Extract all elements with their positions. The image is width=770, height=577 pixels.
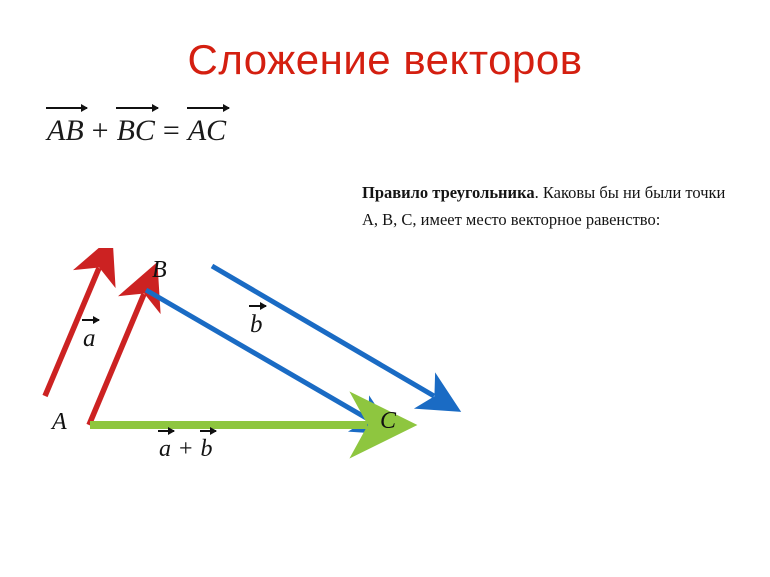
page-title: Сложение векторов [0,38,770,82]
sum-right-letter: b [201,436,213,462]
vector-equation: AB+BC=AC [46,116,227,146]
vector-BC-letters: BC [117,114,155,147]
vector-arrow-overline-icon [200,430,216,432]
vector-arrow-overline-icon [249,305,266,307]
vector-AB-letters: AB [47,114,84,147]
rule-paragraph: Правило треугольника. Каковы бы ни были … [362,180,734,233]
point-label-A: A [52,410,67,434]
vector-arrow-overline-icon [82,319,99,321]
vector-arrow-overline-icon [158,430,174,432]
rule-title: Правило треугольника [362,183,535,202]
vector-label-b: b [249,312,264,337]
sum-right-glyph: b [200,437,214,461]
vector-arrow-overline-icon [187,107,229,109]
point-label-C: C [380,409,396,433]
vector-label-a: a [82,326,97,351]
vector-AC-letters: AC [188,114,226,147]
vector-b-BC [146,290,368,419]
vector-a-letter: a [83,325,96,352]
sum-left-letter: a [159,436,171,462]
plus-operator: + [85,114,116,147]
vector-arrow-overline-icon [46,107,87,109]
sum-plus-operator: + [172,436,200,462]
vector-arrow-overline-icon [116,107,158,109]
vector-AC: AC [187,116,227,146]
diagram-svg [0,248,520,488]
vector-b-letter: b [250,311,263,338]
vector-b-glyph: b [249,312,264,337]
point-label-B: B [152,258,167,282]
vector-triangle-diagram [0,248,520,488]
vector-BC: BC [116,116,156,146]
equals-operator: = [156,114,187,147]
vector-a-AB [89,294,144,425]
sum-left-glyph: a [158,437,172,461]
vector-AB: AB [46,116,85,146]
vector-b-free [212,266,434,396]
vector-a-glyph: a [82,326,97,351]
slide-canvas: Сложение векторов AB+BC=AC Правило треуг… [0,0,770,577]
vector-label-a-plus-b: a+b [158,437,214,461]
